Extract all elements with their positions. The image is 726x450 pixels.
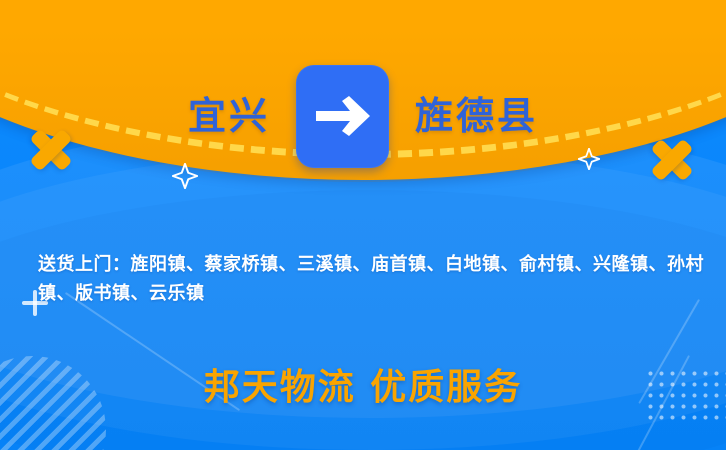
arrow-right-icon	[296, 65, 389, 168]
destination-city-label: 旌德县	[415, 97, 538, 135]
company-slogan: 邦天物流 优质服务	[0, 358, 726, 410]
route-header: 宜兴 旌德县	[0, 78, 726, 154]
poster-canvas: 宜兴 旌德县 送货上门：旌阳镇、蔡家桥镇、三溪镇、庙首镇、白地镇、俞村镇、兴隆镇…	[0, 0, 726, 450]
four-point-star-icon	[172, 163, 198, 189]
delivery-coverage-text: 送货上门：旌阳镇、蔡家桥镇、三溪镇、庙首镇、白地镇、俞村镇、兴隆镇、孙村镇、版书…	[38, 250, 716, 308]
origin-city-label: 宜兴	[188, 97, 270, 135]
